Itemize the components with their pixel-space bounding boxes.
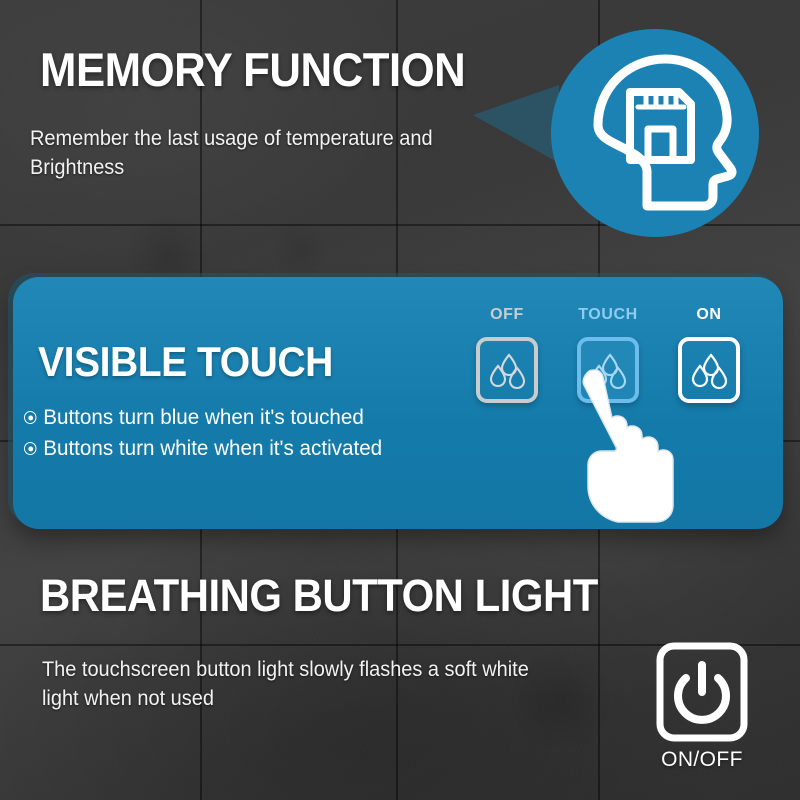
bullet-text: Buttons turn blue when it's touched xyxy=(43,402,364,433)
bullet-ring-icon xyxy=(24,411,36,424)
touch-state-touch-label: TOUCH xyxy=(571,306,645,328)
visible-touch-title: VISIBLE TOUCH xyxy=(38,338,333,386)
head-memory-card-icon xyxy=(551,29,759,237)
water-drops-icon xyxy=(487,350,527,390)
memory-function-description: Remember the last usage of temperature a… xyxy=(30,124,505,182)
power-button-label: ON/OFF xyxy=(655,748,749,772)
light-beam-decoration xyxy=(473,85,559,163)
memory-function-title: MEMORY FUNCTION xyxy=(40,42,465,97)
touch-state-off[interactable]: OFF xyxy=(470,306,544,403)
breathing-light-title: BREATHING BUTTON LIGHT xyxy=(40,570,598,622)
bullet-text: Buttons turn white when it's activated xyxy=(43,433,382,464)
bullet-ring-icon xyxy=(24,442,36,455)
water-drops-icon xyxy=(689,350,729,390)
pointing-hand-icon xyxy=(572,368,684,526)
list-item: Buttons turn blue when it's touched xyxy=(24,402,446,433)
touch-key-off[interactable] xyxy=(476,337,538,403)
product-feature-poster: MEMORY FUNCTION Remember the last usage … xyxy=(0,0,800,800)
list-item: Buttons turn white when it's activated xyxy=(24,433,446,464)
breathing-light-description: The touchscreen button light slowly flas… xyxy=(42,655,555,713)
touch-key-on[interactable] xyxy=(678,337,740,403)
visible-touch-bullet-list: Buttons turn blue when it's touched Butt… xyxy=(24,402,464,464)
touch-state-off-label: OFF xyxy=(470,306,544,328)
touch-state-on-label: ON xyxy=(672,306,746,328)
power-button-icon: ON/OFF xyxy=(655,642,749,772)
memory-function-section: MEMORY FUNCTION Remember the last usage … xyxy=(0,0,800,262)
